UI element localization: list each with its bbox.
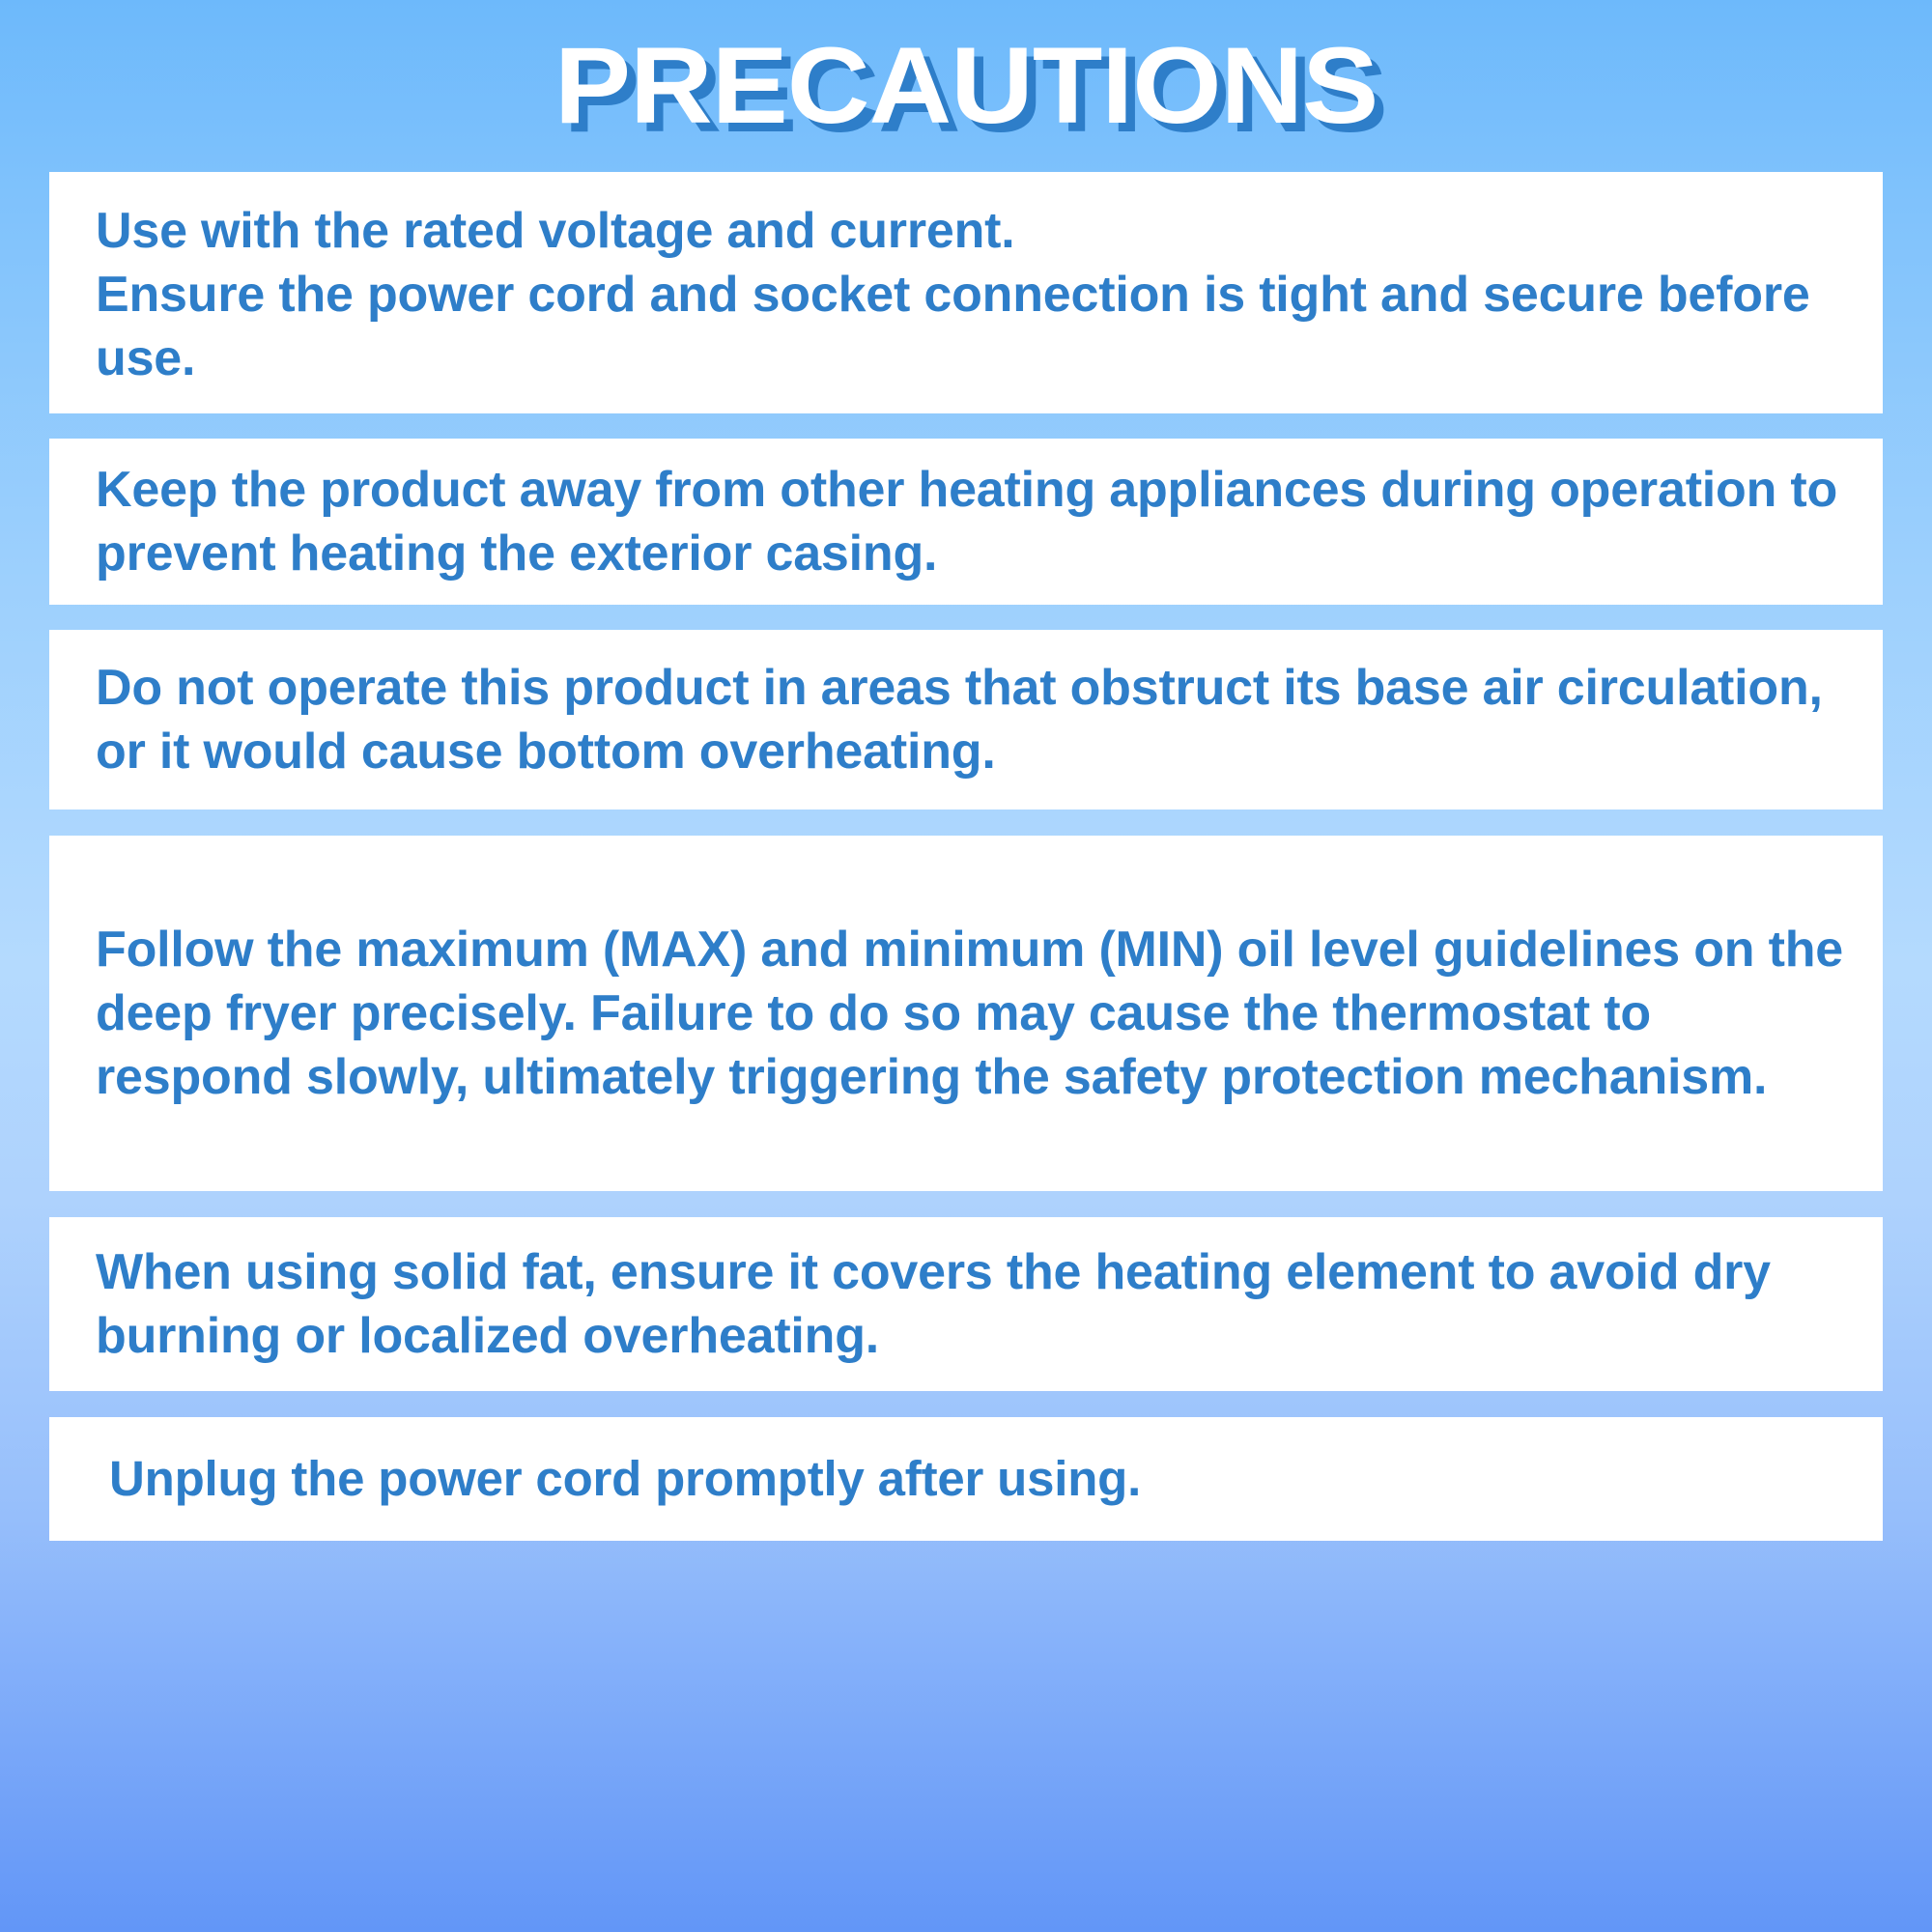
page-title: PRECAUTIONS bbox=[554, 32, 1378, 140]
card-gap bbox=[49, 810, 1883, 836]
precaution-card: Keep the product away from other heating… bbox=[49, 439, 1883, 605]
precaution-text: Keep the product away from other heating… bbox=[96, 458, 1854, 585]
card-gap bbox=[49, 1391, 1883, 1417]
card-gap bbox=[49, 1191, 1883, 1217]
card-gap bbox=[49, 605, 1883, 630]
precaution-card: Use with the rated voltage and current. … bbox=[49, 172, 1883, 413]
precaution-text: When using solid fat, ensure it covers t… bbox=[96, 1240, 1854, 1368]
precautions-poster: PRECAUTIONS Use with the rated voltage a… bbox=[0, 0, 1932, 1932]
precaution-text: Do not operate this product in areas tha… bbox=[96, 656, 1854, 783]
precaution-card-list: Use with the rated voltage and current. … bbox=[49, 172, 1883, 1932]
precaution-card: Unplug the power cord promptly after usi… bbox=[49, 1417, 1883, 1541]
precaution-card: When using solid fat, ensure it covers t… bbox=[49, 1217, 1883, 1391]
precaution-text: Follow the maximum (MAX) and minimum (MI… bbox=[96, 918, 1854, 1109]
precaution-card: Do not operate this product in areas tha… bbox=[49, 630, 1883, 810]
title-container: PRECAUTIONS bbox=[0, 0, 1932, 172]
precaution-text: Use with the rated voltage and current. … bbox=[96, 195, 1854, 390]
precaution-card: Follow the maximum (MAX) and minimum (MI… bbox=[49, 836, 1883, 1191]
card-gap bbox=[49, 413, 1883, 439]
precaution-text: Unplug the power cord promptly after usi… bbox=[109, 1448, 1854, 1511]
